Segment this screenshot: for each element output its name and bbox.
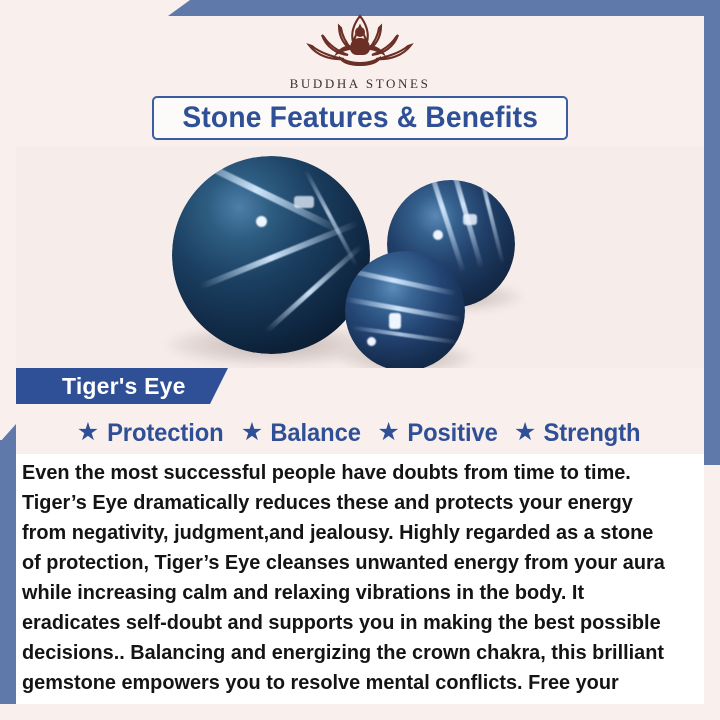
highlight-spot xyxy=(433,230,443,240)
small-sphere xyxy=(345,251,465,368)
benefit-label: Balance xyxy=(271,419,361,448)
benefit-item-strength: ★ Strength xyxy=(508,419,649,448)
benefit-label: Positive xyxy=(407,419,497,448)
stone-name: Tiger's Eye xyxy=(62,373,186,400)
star-icon: ★ xyxy=(241,420,263,445)
bottom-strip xyxy=(0,704,720,720)
stone-name-tab: Tiger's Eye xyxy=(16,368,228,404)
benefit-item-balance: ★ Balance xyxy=(235,419,370,448)
brand-name: BUDDHA STONES xyxy=(290,76,431,92)
title-banner: Stone Features & Benefits xyxy=(152,96,568,140)
highlight-spot xyxy=(389,313,401,329)
benefit-label: Strength xyxy=(544,419,641,448)
star-icon: ★ xyxy=(77,420,99,445)
star-icon: ★ xyxy=(514,420,536,445)
frame-left-border xyxy=(0,440,16,704)
benefit-item-protection: ★ Protection xyxy=(71,419,233,448)
highlight-spot xyxy=(294,196,314,208)
lotus-meditation-icon xyxy=(295,12,425,74)
product-infographic: BUDDHA STONES Stone Features & Benefits xyxy=(0,0,720,720)
highlight-spot xyxy=(256,216,267,227)
large-sphere xyxy=(172,156,370,354)
highlight-spot xyxy=(463,214,477,225)
highlight-spot xyxy=(367,337,376,346)
description-text: Even the most successful people have dou… xyxy=(22,458,670,720)
benefits-row: ★ Protection ★ Balance ★ Positive ★ Stre… xyxy=(16,412,704,454)
benefit-label: Protection xyxy=(107,419,223,448)
stone-photo xyxy=(16,146,704,368)
star-icon: ★ xyxy=(377,420,399,445)
description-block: Even the most successful people have dou… xyxy=(16,454,704,704)
page-title: Stone Features & Benefits xyxy=(182,101,538,135)
benefit-item-positive: ★ Positive xyxy=(371,419,506,448)
brand-logo: BUDDHA STONES xyxy=(0,12,720,92)
